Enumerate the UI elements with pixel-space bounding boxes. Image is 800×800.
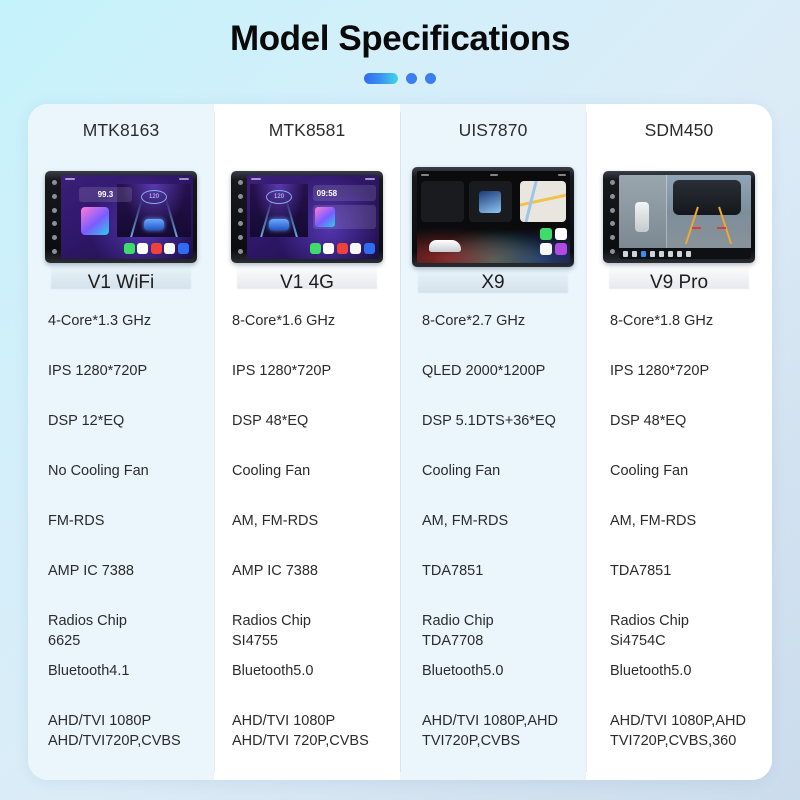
app-icon-carplay bbox=[310, 243, 321, 254]
head-unit-device-image bbox=[412, 167, 574, 267]
device-bezel bbox=[412, 167, 574, 267]
device-bezel: 120 99.3 bbox=[45, 171, 197, 263]
spec-row-radio-bands: FM-RDS bbox=[40, 512, 202, 562]
car-graphic bbox=[144, 219, 164, 230]
purple-dashboard-ui: 120 99.3 bbox=[61, 175, 193, 259]
chipset-name: SDM450 bbox=[598, 104, 760, 152]
spec-row-radio-chip: Radios Chip Si4754C bbox=[598, 612, 760, 662]
spec-comparison-card: MTK8163 120 99.3 bbox=[28, 104, 772, 780]
music-player-widget bbox=[469, 181, 512, 222]
info-widget bbox=[421, 181, 464, 222]
spec-row-camera-input: AHD/TVI 1080P,AHD TVI720P,CVBS bbox=[412, 712, 574, 768]
app-icon-assistant bbox=[555, 243, 567, 255]
spec-row-radio-chip: Radio Chip TDA7708 bbox=[412, 612, 574, 662]
device-sidebar-icons bbox=[49, 176, 60, 258]
spec-row-radio-bands: AM, FM-RDS bbox=[412, 512, 574, 562]
device-screen: 120 99.3 bbox=[61, 175, 193, 259]
music-player-widget bbox=[313, 205, 376, 229]
speedometer-readout: 120 bbox=[141, 190, 167, 204]
spec-row-cpu: 8-Core*1.8 GHz bbox=[598, 312, 760, 362]
pagination-dot-active[interactable] bbox=[364, 73, 398, 84]
view-front-icon[interactable] bbox=[632, 251, 637, 257]
app-dock bbox=[308, 239, 377, 257]
pagination-dot-3[interactable] bbox=[425, 73, 436, 84]
head-unit-device-image bbox=[603, 171, 755, 263]
spec-row-radio-chip: Radios Chip SI4755 bbox=[226, 612, 388, 662]
spec-column-sdm450: SDM450 bbox=[586, 104, 772, 780]
chipset-name: MTK8163 bbox=[40, 104, 202, 152]
device-screen bbox=[619, 175, 751, 259]
spec-row-display: QLED 2000*1200P bbox=[412, 362, 574, 412]
model-name: X9 bbox=[412, 268, 574, 298]
device-sidebar-icons bbox=[607, 176, 618, 258]
spec-row-bluetooth: Bluetooth5.0 bbox=[412, 662, 574, 712]
device-sidebar-icons bbox=[235, 176, 246, 258]
spec-row-cooling: No Cooling Fan bbox=[40, 462, 202, 512]
device-image-wrapper bbox=[598, 152, 760, 282]
app-icon-maps bbox=[350, 243, 361, 254]
app-icon-auto bbox=[137, 243, 148, 254]
road-animation-graphic: 120 bbox=[250, 184, 308, 237]
app-grid bbox=[540, 228, 567, 255]
distance-marker-right bbox=[717, 227, 726, 229]
app-icon-carplay bbox=[540, 228, 552, 240]
spec-row-display: IPS 1280*720P bbox=[226, 362, 388, 412]
spec-row-amp: TDA7851 bbox=[598, 562, 760, 612]
clock-widget: 09:58 bbox=[313, 185, 376, 201]
app-icon-music bbox=[337, 243, 348, 254]
model-name: V1 4G bbox=[226, 268, 388, 298]
view-3d-icon[interactable] bbox=[668, 251, 673, 257]
spec-list: 4-Core*1.3 GHz IPS 1280*720P DSP 12*EQ N… bbox=[40, 298, 202, 768]
view-rear-icon[interactable] bbox=[641, 251, 646, 257]
head-unit-device-image: 120 09:58 bbox=[231, 171, 383, 263]
spec-row-amp: TDA7851 bbox=[412, 562, 574, 612]
detected-vehicle bbox=[673, 180, 741, 215]
spec-row-display: IPS 1280*720P bbox=[40, 362, 202, 412]
spec-row-amp: AMP IC 7388 bbox=[40, 562, 202, 612]
car-graphic bbox=[269, 219, 289, 230]
top-down-view bbox=[619, 175, 667, 259]
car-graphic bbox=[635, 202, 649, 232]
device-screen: 120 09:58 bbox=[247, 175, 379, 259]
carousel-pagination[interactable] bbox=[0, 73, 800, 84]
app-icon-settings bbox=[364, 243, 375, 254]
status-bar bbox=[61, 175, 193, 183]
device-screen bbox=[417, 171, 570, 263]
device-bezel bbox=[603, 171, 755, 263]
spec-row-cooling: Cooling Fan bbox=[412, 462, 574, 512]
spec-row-radio-bands: AM, FM-RDS bbox=[598, 512, 760, 562]
spec-row-cooling: Cooling Fan bbox=[598, 462, 760, 512]
device-image-wrapper bbox=[412, 152, 574, 282]
spec-row-cpu: 8-Core*2.7 GHz bbox=[412, 312, 574, 362]
spec-column-mtk8581: MTK8581 120 09:58 bbox=[214, 104, 400, 780]
spec-row-bluetooth: Bluetooth5.0 bbox=[598, 662, 760, 712]
map-widget bbox=[520, 181, 566, 222]
spec-row-dsp: DSP 12*EQ bbox=[40, 412, 202, 462]
view-wide-icon[interactable] bbox=[686, 251, 691, 257]
album-art bbox=[315, 207, 335, 227]
spec-row-dsp: DSP 48*EQ bbox=[598, 412, 760, 462]
spec-row-cooling: Cooling Fan bbox=[226, 462, 388, 512]
device-bezel: 120 09:58 bbox=[231, 171, 383, 263]
spec-row-camera-input: AHD/TVI 1080P AHD/TVI 720P,CVBS bbox=[226, 712, 388, 768]
page-header: Model Specifications bbox=[0, 0, 800, 84]
dark-dashboard-ui bbox=[417, 171, 570, 263]
spec-row-amp: AMP IC 7388 bbox=[226, 562, 388, 612]
camera-360-ui bbox=[619, 175, 751, 259]
status-bar bbox=[417, 171, 570, 179]
purple-dashboard-ui: 120 09:58 bbox=[247, 175, 379, 259]
spec-column-mtk8163: MTK8163 120 99.3 bbox=[28, 104, 214, 780]
spec-row-radio-chip: Radios Chip 6625 bbox=[40, 612, 202, 662]
app-icon-auto bbox=[555, 228, 567, 240]
spec-row-cpu: 4-Core*1.3 GHz bbox=[40, 312, 202, 362]
app-icon-settings bbox=[178, 243, 189, 254]
view-left-icon[interactable] bbox=[650, 251, 655, 257]
pagination-dot-2[interactable] bbox=[406, 73, 417, 84]
album-art bbox=[81, 207, 109, 235]
view-right-icon[interactable] bbox=[659, 251, 664, 257]
car-graphic bbox=[429, 240, 461, 252]
model-name: V9 Pro bbox=[598, 268, 760, 298]
chipset-name: MTK8581 bbox=[226, 104, 388, 152]
app-icon-maps bbox=[164, 243, 175, 254]
page-title: Model Specifications bbox=[0, 18, 800, 60]
app-icon-maps bbox=[540, 243, 552, 255]
chipset-name: UIS7870 bbox=[412, 104, 574, 152]
spec-row-dsp: DSP 48*EQ bbox=[226, 412, 388, 462]
spec-column-uis7870: UIS7870 bbox=[400, 104, 586, 780]
spec-row-dsp: DSP 5.1DTS+36*EQ bbox=[412, 412, 574, 462]
app-icon-auto bbox=[323, 243, 334, 254]
camera-toolbar[interactable] bbox=[619, 248, 751, 259]
spec-row-bluetooth: Bluetooth5.0 bbox=[226, 662, 388, 712]
app-dock bbox=[122, 239, 191, 257]
spec-row-display: IPS 1280*720P bbox=[598, 362, 760, 412]
spec-list: 8-Core*1.8 GHz IPS 1280*720P DSP 48*EQ C… bbox=[598, 298, 760, 768]
spec-row-bluetooth: Bluetooth4.1 bbox=[40, 662, 202, 712]
spec-row-camera-input: AHD/TVI 1080P,AHD TVI720P,CVBS,360 bbox=[598, 712, 760, 768]
device-image-wrapper: 120 99.3 bbox=[40, 152, 202, 282]
speedometer-readout: 120 bbox=[266, 190, 292, 204]
spec-row-camera-input: AHD/TVI 1080P AHD/TVI720P,CVBS bbox=[40, 712, 202, 768]
distance-marker-left bbox=[692, 227, 701, 229]
view-split-icon[interactable] bbox=[677, 251, 682, 257]
spec-list: 8-Core*1.6 GHz IPS 1280*720P DSP 48*EQ C… bbox=[226, 298, 388, 768]
camera-icon[interactable] bbox=[623, 251, 628, 257]
spec-row-cpu: 8-Core*1.6 GHz bbox=[226, 312, 388, 362]
app-icon-music bbox=[151, 243, 162, 254]
spec-row-radio-bands: AM, FM-RDS bbox=[226, 512, 388, 562]
device-image-wrapper: 120 09:58 bbox=[226, 152, 388, 282]
radio-frequency-display: 99.3 bbox=[79, 187, 132, 202]
spec-list: 8-Core*2.7 GHz QLED 2000*1200P DSP 5.1DT… bbox=[412, 298, 574, 768]
app-icon-carplay bbox=[124, 243, 135, 254]
head-unit-device-image: 120 99.3 bbox=[45, 171, 197, 263]
model-name: V1 WiFi bbox=[40, 268, 202, 298]
rear-camera-view bbox=[667, 175, 751, 259]
status-bar bbox=[247, 175, 379, 183]
album-art bbox=[479, 191, 501, 213]
